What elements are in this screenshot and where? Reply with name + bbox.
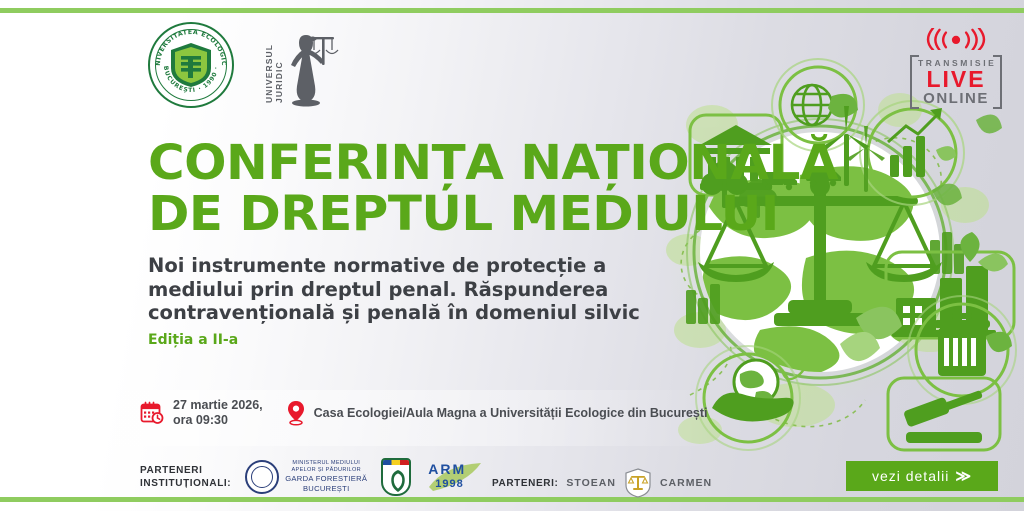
garda-main-line1: GARDA FORESTIERĂ [285, 474, 367, 484]
broadcast-icon [911, 28, 1001, 50]
lady-justice-icon [284, 23, 342, 107]
law-firm-name-left: STOEAN [566, 477, 616, 489]
arm-logo: ARM 1998 [425, 459, 487, 495]
institutional-label-line2: INSTITUȚIONALI: [140, 477, 231, 490]
top-divider-rule [0, 8, 1024, 13]
institutional-partners-label: PARTENERI INSTITUȚIONALI: [140, 464, 231, 490]
arm-text: ARM [428, 461, 466, 477]
universul-juridic-logo: UNIVERSUL JURIDIC [264, 23, 342, 107]
map-pin-icon [287, 400, 305, 426]
live-broadcast-badge: TRANSMISIE LIVE ONLINE [910, 28, 1002, 109]
chevron-right-icon: ≫ [955, 467, 972, 485]
live-badge-line2: LIVE [918, 68, 994, 91]
event-date-text: 27 martie 2026, ora 09:30 [173, 398, 263, 428]
forestry-crest-icon [381, 458, 411, 496]
garda-forestiera-logo: MINISTERUL MEDIULUI APELOR ȘI PĂDURILOR … [245, 460, 367, 494]
garda-main-line2: BUCUREȘTI [285, 484, 367, 494]
page-title: CONFERINȚA NAȚIONALĂ DE DREPTUL MEDIULUI [148, 138, 730, 240]
headline-block: CONFERINȚA NAȚIONALĂ DE DREPTUL MEDIULUI… [148, 138, 708, 348]
edition-label: Ediția a II-a [148, 332, 708, 348]
subtitle: Noi instrumente normative de protecție a… [148, 254, 688, 325]
event-date-line1: 27 martie 2026, [173, 398, 263, 413]
institutional-label-line1: PARTENERI [140, 464, 231, 477]
partners-label: PARTENERI: [492, 477, 558, 490]
event-date: 27 martie 2026, ora 09:30 [140, 398, 263, 428]
garda-top-line2: APELOR ȘI PĂDURILOR [285, 467, 367, 474]
title-line-1: CONFERINȚA NAȚIONALĂ [148, 135, 838, 191]
calendar-clock-icon [140, 401, 164, 425]
live-badge-line3: ONLINE [918, 91, 994, 107]
organizer-logos: UNIVERSITATEA ECOLOGICĂ BUCUREȘTI · 1990… [148, 22, 342, 108]
event-location-text: Casa Ecologiei/Aula Magna a Universități… [314, 406, 708, 420]
view-details-label: vezi detalii [872, 468, 949, 484]
commercial-partners: PARTENERI: STOEAN CARMEN [492, 468, 712, 498]
view-details-button[interactable]: vezi detalii ≫ [846, 461, 998, 491]
conference-banner: UNIVERSITATEA ECOLOGICĂ BUCUREȘTI · 1990… [0, 0, 1024, 511]
arm-year: 1998 [435, 478, 463, 490]
event-location: Casa Ecologiei/Aula Magna a Universități… [287, 400, 708, 426]
universul-juridic-label: UNIVERSUL JURIDIC [264, 27, 284, 103]
title-line-2: DE DREPTUL MEDIULUI [148, 189, 730, 240]
government-seal-icon [245, 460, 279, 494]
institutional-partners: PARTENERI INSTITUȚIONALI: MINISTERUL MED… [140, 458, 487, 496]
event-meta: 27 martie 2026, ora 09:30 Casa Ecologiei… [140, 398, 708, 428]
law-firm-name-right: CARMEN [660, 477, 712, 489]
university-seal-logo: UNIVERSITATEA ECOLOGICĂ BUCUREȘTI · 1990… [148, 22, 234, 108]
scales-seal-icon [624, 468, 652, 498]
event-date-line2: ora 09:30 [173, 413, 263, 428]
